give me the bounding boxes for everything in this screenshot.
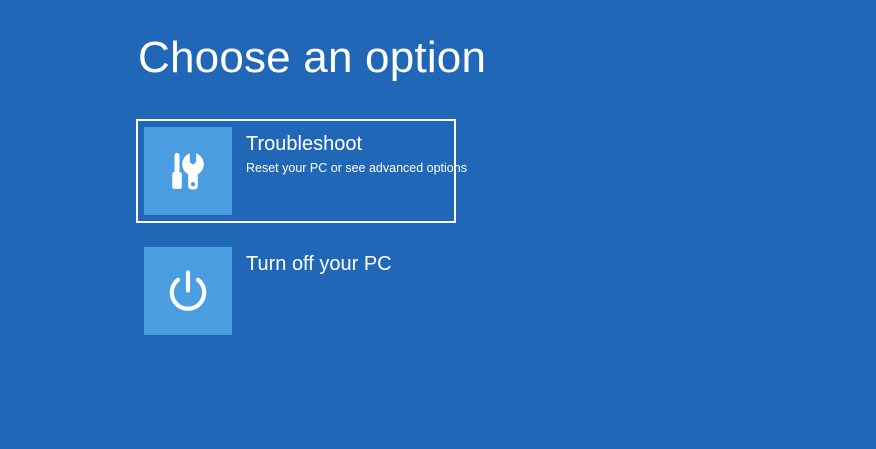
troubleshoot-subtitle: Reset your PC or see advanced options (246, 157, 448, 178)
option-turn-off-your-pc[interactable]: Turn off your PC (136, 239, 456, 343)
troubleshoot-icon-tile (144, 127, 232, 215)
troubleshoot-title: Troubleshoot (246, 131, 448, 157)
recovery-screen: Choose an option Troubleshoot Reset your… (0, 0, 876, 449)
turn-off-subtitle (246, 277, 392, 280)
turn-off-text: Turn off your PC (232, 247, 392, 280)
option-troubleshoot[interactable]: Troubleshoot Reset your PC or see advanc… (136, 119, 456, 223)
page-title: Choose an option (138, 33, 486, 84)
troubleshoot-text: Troubleshoot Reset your PC or see advanc… (232, 127, 448, 178)
wrench-screwdriver-icon (162, 145, 214, 197)
turn-off-title: Turn off your PC (246, 251, 392, 277)
turn-off-icon-tile (144, 247, 232, 335)
power-icon (162, 265, 214, 317)
